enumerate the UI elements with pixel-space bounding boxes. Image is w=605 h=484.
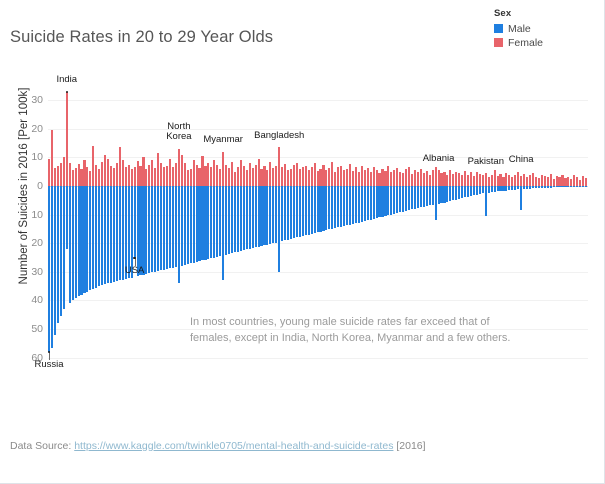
bar-pair[interactable] — [370, 72, 372, 398]
bar-male[interactable] — [322, 186, 324, 231]
bar-male[interactable] — [411, 186, 413, 209]
bar-female[interactable] — [231, 162, 233, 186]
bar-female[interactable] — [308, 170, 310, 186]
bar-female[interactable] — [423, 173, 425, 186]
bar-male[interactable] — [119, 186, 121, 280]
bar-pair[interactable] — [101, 72, 103, 398]
bar-female[interactable] — [181, 155, 183, 186]
bar-pair[interactable] — [317, 72, 319, 398]
bar-pair[interactable] — [352, 72, 354, 398]
bar-female[interactable] — [461, 175, 463, 186]
bar-pair[interactable] — [278, 72, 280, 398]
bar-pair[interactable] — [63, 72, 65, 398]
bar-pair[interactable] — [201, 72, 203, 398]
bar-pair[interactable] — [296, 72, 298, 398]
bar-pair[interactable] — [148, 72, 150, 398]
bar-male[interactable] — [378, 186, 380, 217]
bar-male[interactable] — [458, 186, 460, 199]
bar-female[interactable] — [305, 166, 307, 186]
bar-female[interactable] — [63, 157, 65, 186]
bar-male[interactable] — [190, 186, 192, 263]
bar-pair[interactable] — [405, 72, 407, 398]
bar-male[interactable] — [414, 186, 416, 209]
bar-male[interactable] — [464, 186, 466, 197]
bar-pair[interactable] — [464, 72, 466, 398]
bar-pair[interactable] — [343, 72, 345, 398]
bar-pair[interactable] — [325, 72, 327, 398]
bar-male[interactable] — [66, 186, 68, 249]
bar-pair[interactable] — [66, 72, 68, 398]
bar-pair[interactable] — [48, 72, 50, 398]
bar-pair[interactable] — [125, 72, 127, 398]
bar-male[interactable] — [122, 186, 124, 280]
bar-male[interactable] — [193, 186, 195, 263]
bar-female[interactable] — [314, 163, 316, 186]
bar-female[interactable] — [553, 179, 555, 186]
bar-male[interactable] — [57, 186, 59, 323]
bar-pair[interactable] — [157, 72, 159, 398]
bar-female[interactable] — [166, 166, 168, 186]
bar-female[interactable] — [104, 155, 106, 186]
bar-female[interactable] — [160, 163, 162, 186]
bar-female[interactable] — [219, 169, 221, 186]
bar-pair[interactable] — [517, 72, 519, 398]
bar-female[interactable] — [302, 167, 304, 186]
bar-male[interactable] — [207, 186, 209, 259]
bar-female[interactable] — [266, 170, 268, 186]
bar-female[interactable] — [125, 167, 127, 186]
bar-male[interactable] — [553, 186, 555, 187]
bar-male[interactable] — [402, 186, 404, 212]
bar-female[interactable] — [526, 177, 528, 186]
bar-pair[interactable] — [544, 72, 546, 398]
bar-pair[interactable] — [263, 72, 265, 398]
bar-male[interactable] — [139, 186, 141, 275]
bar-male[interactable] — [243, 186, 245, 250]
bar-female[interactable] — [337, 167, 339, 186]
bar-pair[interactable] — [523, 72, 525, 398]
bar-pair[interactable] — [322, 72, 324, 398]
bar-male[interactable] — [343, 186, 345, 226]
bar-male[interactable] — [505, 186, 507, 191]
bar-male[interactable] — [523, 186, 525, 189]
bar-male[interactable] — [440, 186, 442, 203]
bar-female[interactable] — [349, 164, 351, 186]
bar-female[interactable] — [299, 169, 301, 186]
bar-pair[interactable] — [376, 72, 378, 398]
bar-female[interactable] — [408, 167, 410, 186]
bar-female[interactable] — [367, 168, 369, 186]
bar-male[interactable] — [63, 186, 65, 309]
bar-pair[interactable] — [373, 72, 375, 398]
bar-pair[interactable] — [429, 72, 431, 398]
bar-pair[interactable] — [346, 72, 348, 398]
bar-pair[interactable] — [98, 72, 100, 398]
bar-pair[interactable] — [275, 72, 277, 398]
bar-male[interactable] — [491, 186, 493, 192]
bar-male[interactable] — [137, 186, 139, 276]
bar-male[interactable] — [305, 186, 307, 235]
bar-male[interactable] — [558, 186, 560, 187]
bar-pair[interactable] — [69, 72, 71, 398]
bar-pair[interactable] — [107, 72, 109, 398]
bar-female[interactable] — [116, 163, 118, 186]
bar-female[interactable] — [101, 162, 103, 186]
bar-female[interactable] — [473, 176, 475, 186]
bar-male[interactable] — [349, 186, 351, 225]
bar-pair[interactable] — [104, 72, 106, 398]
bar-female[interactable] — [564, 178, 566, 186]
bar-male[interactable] — [426, 186, 428, 206]
bar-male[interactable] — [231, 186, 233, 253]
bar-male[interactable] — [446, 186, 448, 202]
bar-pair[interactable] — [361, 72, 363, 398]
bar-female[interactable] — [523, 174, 525, 186]
bar-pair[interactable] — [51, 72, 53, 398]
bar-female[interactable] — [216, 165, 218, 186]
bar-female[interactable] — [452, 174, 454, 186]
bar-male[interactable] — [585, 186, 587, 187]
bar-female[interactable] — [535, 177, 537, 186]
bar-male[interactable] — [48, 186, 50, 352]
bar-female[interactable] — [54, 168, 56, 186]
bar-pair[interactable] — [476, 72, 478, 398]
bar-pair[interactable] — [535, 72, 537, 398]
bar-pair[interactable] — [258, 72, 260, 398]
bar-female[interactable] — [505, 173, 507, 186]
bar-pair[interactable] — [558, 72, 560, 398]
bar-female[interactable] — [169, 159, 171, 186]
bar-female[interactable] — [405, 169, 407, 186]
bar-pair[interactable] — [514, 72, 516, 398]
bar-pair[interactable] — [576, 72, 578, 398]
bar-male[interactable] — [78, 186, 80, 296]
bar-male[interactable] — [567, 186, 569, 187]
bar-female[interactable] — [131, 169, 133, 186]
bar-female[interactable] — [204, 166, 206, 186]
bar-male[interactable] — [420, 186, 422, 207]
bar-male[interactable] — [340, 186, 342, 227]
bar-pair[interactable] — [252, 72, 254, 398]
bar-male[interactable] — [573, 186, 575, 187]
bar-pair[interactable] — [479, 72, 481, 398]
bar-pair[interactable] — [529, 72, 531, 398]
bar-female[interactable] — [196, 165, 198, 186]
bar-pair[interactable] — [137, 72, 139, 398]
bar-female[interactable] — [476, 172, 478, 186]
bar-male[interactable] — [302, 186, 304, 236]
bar-female[interactable] — [346, 169, 348, 186]
bar-male[interactable] — [107, 186, 109, 283]
bar-pair[interactable] — [426, 72, 428, 398]
bar-female[interactable] — [499, 174, 501, 186]
bar-female[interactable] — [325, 170, 327, 186]
bar-male[interactable] — [470, 186, 472, 196]
bar-male[interactable] — [532, 186, 534, 188]
bar-pair[interactable] — [567, 72, 569, 398]
bar-male[interactable] — [541, 186, 543, 188]
bar-pair[interactable] — [216, 72, 218, 398]
bar-male[interactable] — [482, 186, 484, 193]
bar-female[interactable] — [258, 159, 260, 186]
bar-male[interactable] — [69, 186, 71, 303]
bar-male[interactable] — [142, 186, 144, 275]
bar-male[interactable] — [154, 186, 156, 272]
bar-male[interactable] — [249, 186, 251, 249]
bar-pair[interactable] — [305, 72, 307, 398]
bar-pair[interactable] — [499, 72, 501, 398]
bar-pair[interactable] — [110, 72, 112, 398]
bar-male[interactable] — [582, 186, 584, 187]
bar-female[interactable] — [69, 163, 71, 186]
bar-male[interactable] — [337, 186, 339, 227]
bar-pair[interactable] — [532, 72, 534, 398]
bar-female[interactable] — [193, 160, 195, 186]
bar-female[interactable] — [311, 167, 313, 186]
bar-female[interactable] — [343, 170, 345, 186]
bar-pair[interactable] — [243, 72, 245, 398]
bar-pair[interactable] — [145, 72, 147, 398]
bar-pair[interactable] — [402, 72, 404, 398]
bar-female[interactable] — [293, 165, 295, 186]
bar-male[interactable] — [266, 186, 268, 245]
bar-pair[interactable] — [207, 72, 209, 398]
bar-female[interactable] — [252, 168, 254, 186]
bar-female[interactable] — [175, 163, 177, 186]
bar-pair[interactable] — [234, 72, 236, 398]
bar-male[interactable] — [494, 186, 496, 192]
bar-female[interactable] — [228, 168, 230, 186]
bar-pair[interactable] — [299, 72, 301, 398]
bar-male[interactable] — [443, 186, 445, 203]
bar-male[interactable] — [399, 186, 401, 212]
bar-male[interactable] — [75, 186, 77, 298]
bar-pair[interactable] — [561, 72, 563, 398]
bar-male[interactable] — [60, 186, 62, 316]
bar-pair[interactable] — [564, 72, 566, 398]
bar-pair[interactable] — [198, 72, 200, 398]
bar-female[interactable] — [482, 175, 484, 186]
bar-female[interactable] — [148, 165, 150, 186]
bar-female[interactable] — [508, 175, 510, 186]
bar-female[interactable] — [163, 167, 165, 186]
bar-female[interactable] — [340, 166, 342, 186]
bar-female[interactable] — [278, 147, 280, 186]
bar-male[interactable] — [54, 186, 56, 335]
bar-pair[interactable] — [440, 72, 442, 398]
bar-male[interactable] — [281, 186, 283, 241]
bar-female[interactable] — [157, 153, 159, 186]
bar-female[interactable] — [80, 169, 82, 186]
bar-male[interactable] — [163, 186, 165, 270]
bar-male[interactable] — [517, 186, 519, 189]
bar-male[interactable] — [210, 186, 212, 258]
bar-female[interactable] — [458, 173, 460, 186]
bar-female[interactable] — [420, 169, 422, 186]
bar-pair[interactable] — [547, 72, 549, 398]
bar-pair[interactable] — [435, 72, 437, 398]
bar-pair[interactable] — [249, 72, 251, 398]
bar-pair[interactable] — [302, 72, 304, 398]
bar-male[interactable] — [181, 186, 183, 266]
bar-male[interactable] — [452, 186, 454, 200]
bar-pair[interactable] — [86, 72, 88, 398]
bar-male[interactable] — [275, 186, 277, 243]
bar-male[interactable] — [317, 186, 319, 232]
bar-male[interactable] — [361, 186, 363, 222]
bar-pair[interactable] — [550, 72, 552, 398]
bar-male[interactable] — [296, 186, 298, 237]
bar-female[interactable] — [361, 166, 363, 186]
bar-female[interactable] — [541, 175, 543, 186]
bar-male[interactable] — [184, 186, 186, 265]
bar-pair[interactable] — [193, 72, 195, 398]
bar-female[interactable] — [544, 176, 546, 186]
bar-male[interactable] — [535, 186, 537, 188]
bar-pair[interactable] — [508, 72, 510, 398]
bar-female[interactable] — [352, 171, 354, 186]
bar-female[interactable] — [178, 149, 180, 186]
bar-female[interactable] — [86, 167, 88, 186]
bar-pair[interactable] — [414, 72, 416, 398]
bar-male[interactable] — [166, 186, 168, 269]
bar-pair[interactable] — [358, 72, 360, 398]
bar-pair[interactable] — [163, 72, 165, 398]
bar-pair[interactable] — [511, 72, 513, 398]
bar-male[interactable] — [381, 186, 383, 217]
bar-pair[interactable] — [142, 72, 144, 398]
bar-male[interactable] — [529, 186, 531, 189]
bar-pair[interactable] — [75, 72, 77, 398]
bar-pair[interactable] — [408, 72, 410, 398]
bar-pair[interactable] — [272, 72, 274, 398]
bar-male[interactable] — [160, 186, 162, 270]
bar-female[interactable] — [378, 173, 380, 186]
bar-male[interactable] — [148, 186, 150, 273]
bar-pair[interactable] — [83, 72, 85, 398]
bar-male[interactable] — [502, 186, 504, 191]
bar-female[interactable] — [443, 172, 445, 186]
bar-male[interactable] — [405, 186, 407, 211]
data-source-link[interactable]: https://www.kaggle.com/twinkle0705/menta… — [74, 440, 393, 452]
bar-pair[interactable] — [116, 72, 118, 398]
bar-pair[interactable] — [497, 72, 499, 398]
bar-female[interactable] — [154, 168, 156, 186]
bar-pair[interactable] — [54, 72, 56, 398]
bar-female[interactable] — [384, 171, 386, 186]
bar-female[interactable] — [287, 170, 289, 186]
bar-female[interactable] — [373, 167, 375, 186]
bar-female[interactable] — [502, 177, 504, 186]
bar-pair[interactable] — [92, 72, 94, 398]
bar-male[interactable] — [134, 186, 136, 258]
bar-male[interactable] — [328, 186, 330, 229]
bar-female[interactable] — [260, 169, 262, 186]
bar-pair[interactable] — [423, 72, 425, 398]
bar-male[interactable] — [364, 186, 366, 221]
bar-female[interactable] — [532, 173, 534, 186]
bar-female[interactable] — [331, 162, 333, 186]
bar-pair[interactable] — [80, 72, 82, 398]
bar-female[interactable] — [432, 170, 434, 186]
bar-pair[interactable] — [367, 72, 369, 398]
bar-pair[interactable] — [72, 72, 74, 398]
bar-female[interactable] — [414, 170, 416, 186]
bar-male[interactable] — [384, 186, 386, 216]
bar-female[interactable] — [122, 160, 124, 186]
bar-pair[interactable] — [505, 72, 507, 398]
bar-female[interactable] — [290, 169, 292, 186]
bar-male[interactable] — [387, 186, 389, 215]
bar-pair[interactable] — [438, 72, 440, 398]
bar-female[interactable] — [83, 160, 85, 186]
bar-male[interactable] — [225, 186, 227, 255]
bar-female[interactable] — [426, 171, 428, 186]
bar-pair[interactable] — [237, 72, 239, 398]
bar-male[interactable] — [435, 186, 437, 220]
bar-male[interactable] — [255, 186, 257, 247]
bar-pair[interactable] — [387, 72, 389, 398]
bar-male[interactable] — [346, 186, 348, 225]
bar-male[interactable] — [550, 186, 552, 188]
bar-pair[interactable] — [446, 72, 448, 398]
bar-male[interactable] — [201, 186, 203, 260]
bar-male[interactable] — [246, 186, 248, 249]
bar-pair[interactable] — [349, 72, 351, 398]
bar-pair[interactable] — [287, 72, 289, 398]
bar-female[interactable] — [190, 169, 192, 186]
bar-pair[interactable] — [378, 72, 380, 398]
bar-male[interactable] — [213, 186, 215, 258]
bar-male[interactable] — [325, 186, 327, 230]
bar-female[interactable] — [137, 161, 139, 186]
bar-female[interactable] — [440, 173, 442, 186]
bar-pair[interactable] — [246, 72, 248, 398]
bar-female[interactable] — [113, 168, 115, 186]
bar-female[interactable] — [485, 173, 487, 186]
bar-pair[interactable] — [196, 72, 198, 398]
bar-pair[interactable] — [219, 72, 221, 398]
bar-male[interactable] — [367, 186, 369, 220]
bar-pair[interactable] — [240, 72, 242, 398]
bar-female[interactable] — [520, 176, 522, 186]
bar-female[interactable] — [328, 168, 330, 186]
bar-pair[interactable] — [573, 72, 575, 398]
bar-male[interactable] — [358, 186, 360, 223]
bar-female[interactable] — [393, 170, 395, 186]
bar-male[interactable] — [83, 186, 85, 293]
bar-female[interactable] — [296, 163, 298, 186]
bar-female[interactable] — [529, 175, 531, 186]
bar-male[interactable] — [157, 186, 159, 271]
bar-male[interactable] — [499, 186, 501, 191]
bar-male[interactable] — [570, 186, 572, 187]
bar-male[interactable] — [187, 186, 189, 264]
bar-pair[interactable] — [334, 72, 336, 398]
legend-item-female[interactable]: Female — [494, 36, 594, 49]
bar-pair[interactable] — [281, 72, 283, 398]
bar-female[interactable] — [78, 164, 80, 186]
bar-male[interactable] — [488, 186, 490, 193]
bar-male[interactable] — [538, 186, 540, 188]
bar-pair[interactable] — [95, 72, 97, 398]
bar-female[interactable] — [355, 167, 357, 186]
bar-pair[interactable] — [89, 72, 91, 398]
bar-female[interactable] — [446, 175, 448, 186]
bar-pair[interactable] — [585, 72, 587, 398]
bar-pair[interactable] — [128, 72, 130, 398]
bar-female[interactable] — [376, 170, 378, 186]
